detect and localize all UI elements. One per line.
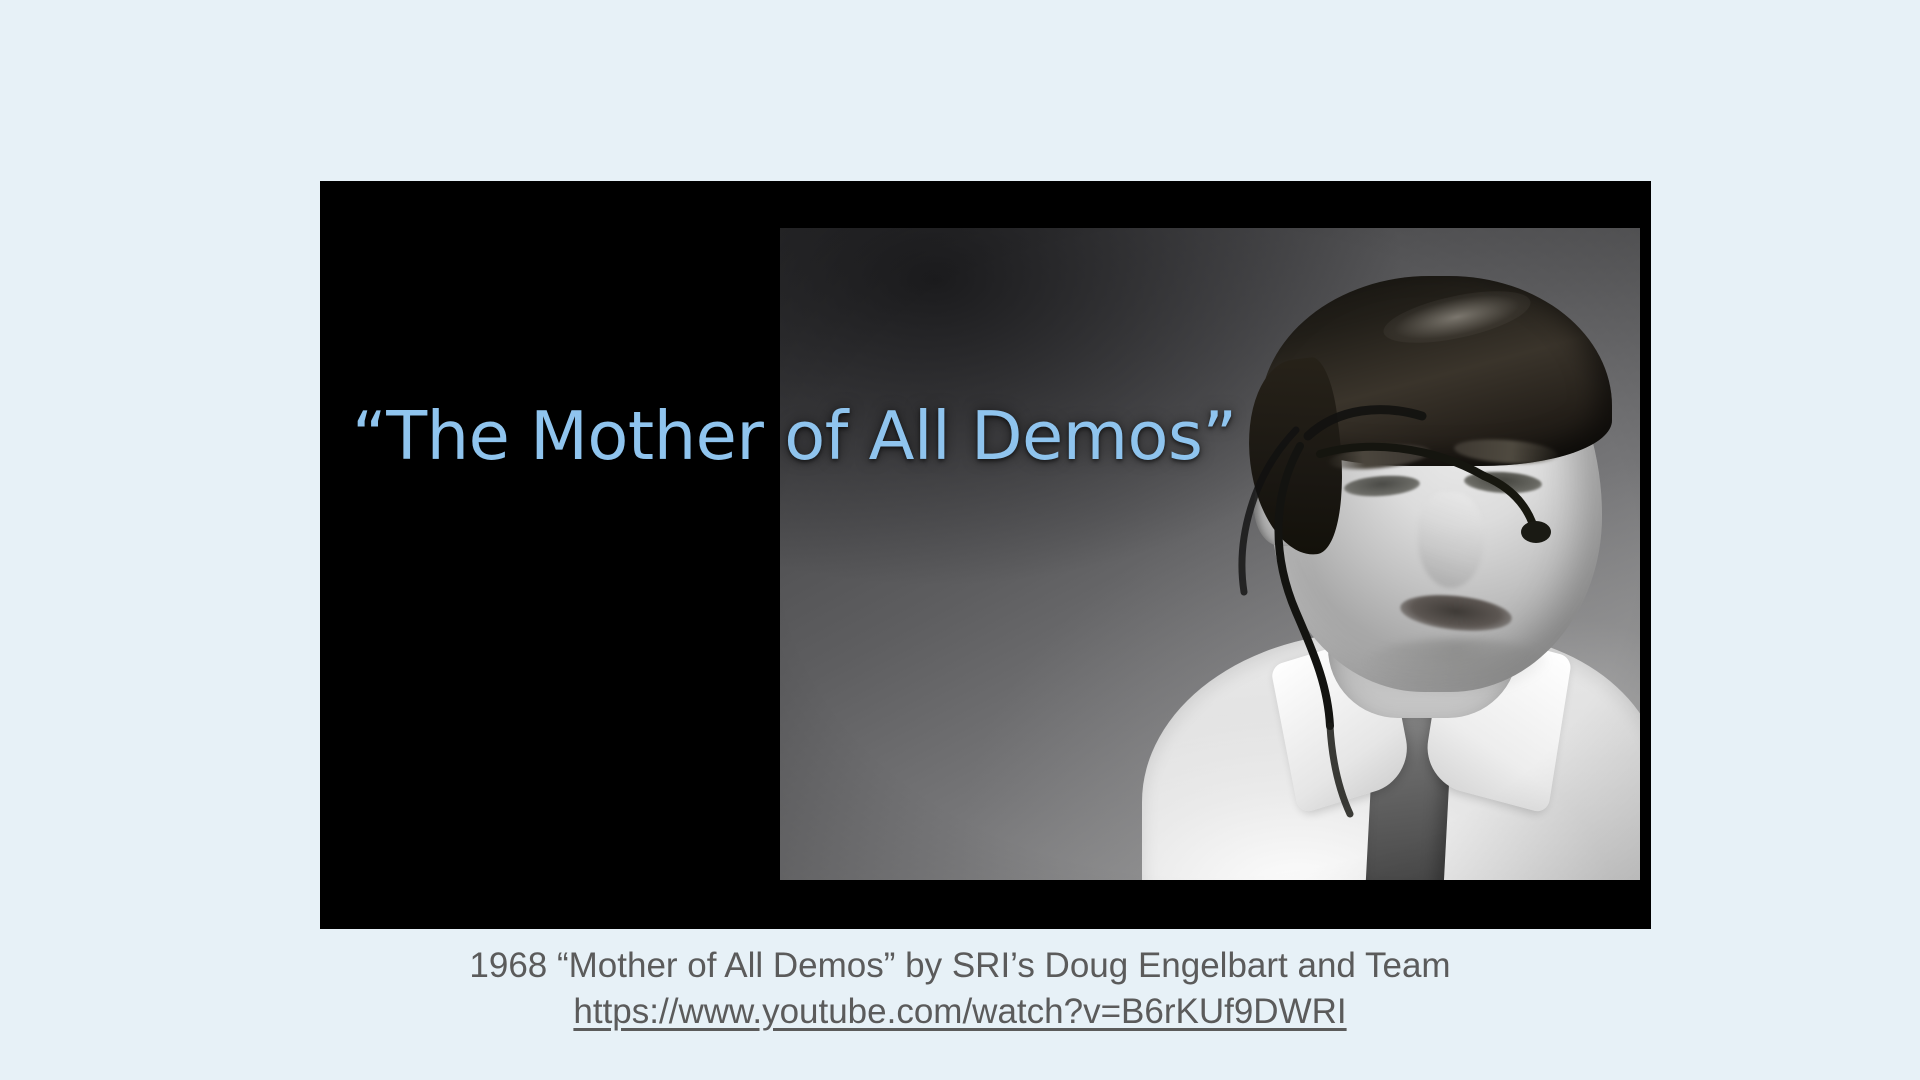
- video-still-image: [780, 228, 1640, 880]
- caption-line-1: 1968 “Mother of All Demos” by SRI’s Doug…: [0, 944, 1920, 988]
- caption: 1968 “Mother of All Demos” by SRI’s Doug…: [0, 944, 1920, 1034]
- youtube-link[interactable]: https://www.youtube.com/watch?v=B6rKUf9D…: [573, 990, 1346, 1034]
- slide-canvas: “The Mother of All Demos” 1968 “Mother o…: [0, 0, 1920, 1080]
- image-vignette: [780, 228, 1640, 880]
- video-frame[interactable]: “The Mother of All Demos”: [320, 181, 1651, 929]
- video-overlay-title: “The Mother of All Demos”: [352, 397, 1552, 475]
